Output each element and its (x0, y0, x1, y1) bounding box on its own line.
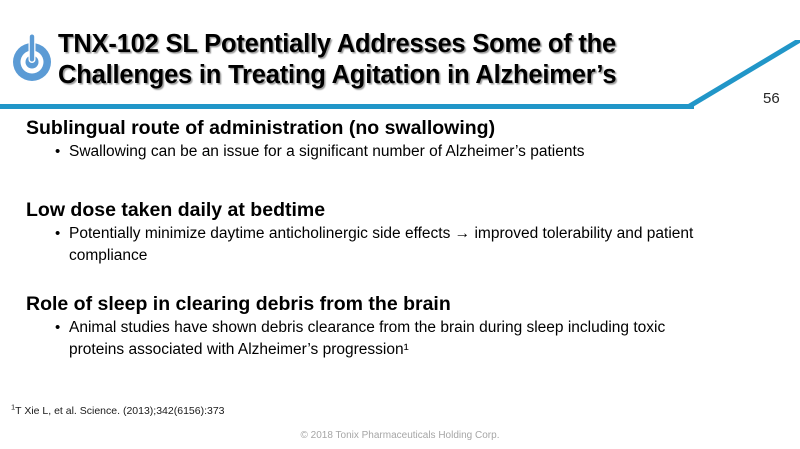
slide-canvas: TNX-102 SL Potentially Addresses Some of… (0, 0, 800, 449)
bullet-item: • Swallowing can be an issue for a signi… (55, 141, 780, 163)
bullet-text: Potentially minimize daytime anticholine… (69, 223, 709, 266)
slide-header: TNX-102 SL Potentially Addresses Some of… (0, 0, 800, 112)
header-accent-diagonal (688, 40, 800, 110)
title-line-1: TNX-102 SL Potentially Addresses Some of… (58, 29, 698, 60)
section-heading: Role of sleep in clearing debris from th… (26, 292, 780, 316)
bullet-marker-icon: • (55, 141, 69, 163)
bullet-text: Swallowing can be an issue for a signifi… (69, 141, 709, 163)
bullet-item: • Potentially minimize daytime anticholi… (55, 223, 780, 266)
section-heading: Sublingual route of administration (no s… (26, 116, 780, 140)
footnote-text: T Xie L, et al. Science. (2013);342(6156… (15, 405, 224, 417)
header-accent-rule (0, 104, 694, 109)
content-section-role-of-sleep: Role of sleep in clearing debris from th… (0, 292, 780, 360)
page-number: 56 (763, 90, 780, 107)
page-title: TNX-102 SL Potentially Addresses Some of… (58, 29, 698, 91)
bullet-marker-icon: • (55, 223, 69, 245)
section-heading: Low dose taken daily at bedtime (26, 198, 780, 222)
bullet-item: • Animal studies have shown debris clear… (55, 317, 780, 360)
content-section-low-dose: Low dose taken daily at bedtime • Potent… (0, 198, 780, 266)
bullet-text: Animal studies have shown debris clearan… (69, 317, 709, 360)
title-line-2: Challenges in Treating Agitation in Alzh… (58, 60, 698, 91)
copyright-notice: © 2018 Tonix Pharmaceuticals Holding Cor… (0, 430, 800, 441)
content-section-sublingual-route: Sublingual route of administration (no s… (0, 116, 780, 163)
footnote-citation: 1T Xie L, et al. Science. (2013);342(615… (11, 404, 225, 418)
bullet-marker-icon: • (55, 317, 69, 339)
tonix-power-button-logo-icon (10, 31, 54, 83)
